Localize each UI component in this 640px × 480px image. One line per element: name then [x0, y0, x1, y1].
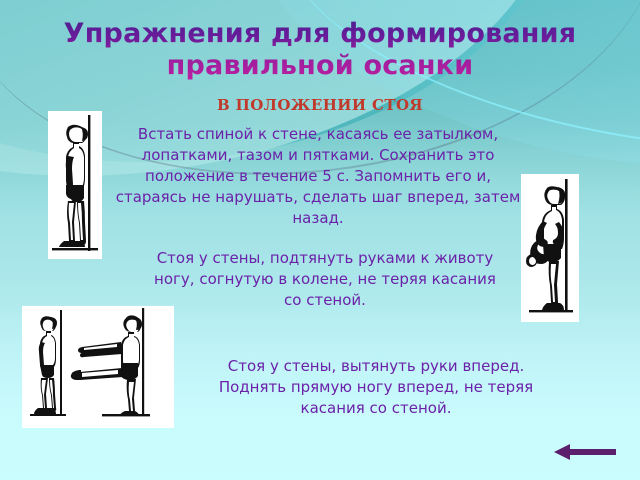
slide-title: Упражнения для формирования правильной о… [60, 18, 580, 82]
standing-against-wall-illustration [48, 111, 102, 259]
leg-raise-illustration [22, 306, 174, 428]
slide-title-line-1: Упражнения для формирования [60, 18, 580, 50]
slide-title-line-2: правильной осанки [60, 50, 580, 82]
knee-raise-illustration [521, 174, 579, 322]
instruction-paragraph-1: Встать спиной к стене, касаясь ее затылк… [108, 124, 528, 229]
figure-knee-raise-against-wall [521, 174, 579, 322]
presentation-slide: Упражнения для формирования правильной о… [0, 0, 640, 480]
back-arrow-button[interactable] [554, 442, 616, 462]
back-arrow-icon[interactable] [554, 442, 616, 462]
figure-standing-against-wall [48, 111, 102, 259]
figure-leg-raise-against-wall [22, 306, 174, 428]
instruction-paragraph-3: Стоя у стены, вытянуть руки вперед. Подн… [196, 356, 556, 419]
slide-subtitle: В ПОЛОЖЕНИИ СТОЯ [60, 96, 580, 114]
instruction-paragraph-2: Стоя у стены, подтянуть руками к животу … [150, 248, 500, 311]
